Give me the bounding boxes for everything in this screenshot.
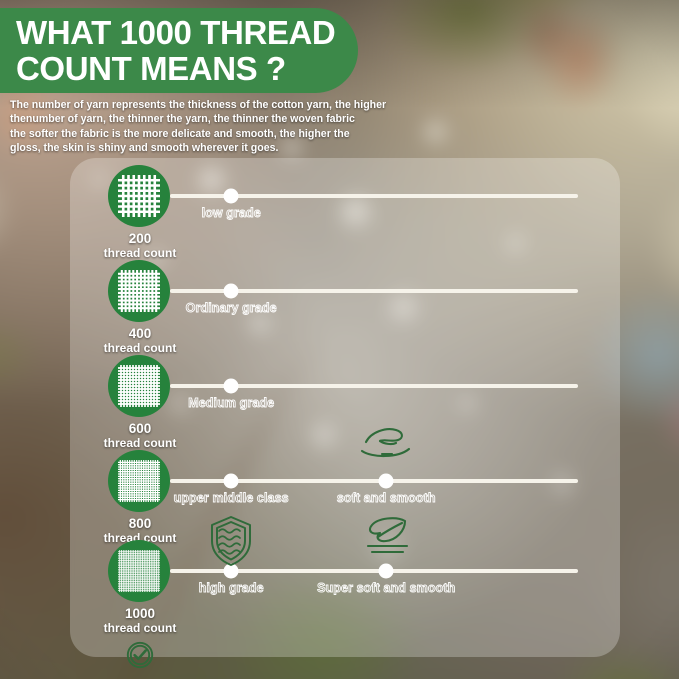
scale-stop-label: soft and smooth bbox=[337, 491, 436, 505]
scale-stop-label: Super soft and smooth bbox=[317, 581, 455, 595]
intro-paragraph: The number of yarn represents the thickn… bbox=[10, 98, 410, 156]
scale-stop-dot[interactable] bbox=[224, 284, 239, 299]
scale-stop-label: upper middle class bbox=[174, 491, 289, 505]
thread-count-number: 800 bbox=[60, 517, 220, 532]
mesh-grid-icon bbox=[118, 365, 160, 407]
scale-stop-label: low grade bbox=[202, 206, 261, 220]
check-circle-icon bbox=[126, 641, 154, 674]
thread-count-number: 200 bbox=[60, 232, 220, 247]
thread-count-number: 600 bbox=[60, 422, 220, 437]
thread-count-number: 400 bbox=[60, 327, 220, 342]
page-title: WHAT 1000 THREAD COUNT MEANS ? bbox=[0, 15, 353, 86]
thread-count-unit: thread count bbox=[60, 437, 220, 450]
mesh-grid-icon bbox=[118, 175, 160, 217]
scale-stop-label: Ordinary grade bbox=[186, 301, 277, 315]
thread-count-label: 400thread count bbox=[60, 327, 220, 355]
thread-count-unit: thread count bbox=[60, 622, 220, 635]
title-banner: WHAT 1000 THREAD COUNT MEANS ? bbox=[0, 8, 358, 93]
scale-stop-dot[interactable] bbox=[224, 474, 239, 489]
thread-mesh-swatch bbox=[108, 260, 170, 322]
thread-count-number: 1000 bbox=[60, 607, 220, 622]
thread-mesh-swatch bbox=[108, 165, 170, 227]
thread-mesh-swatch bbox=[108, 540, 170, 602]
thread-count-label: 600thread count bbox=[60, 422, 220, 450]
scale-stop-label: Medium grade bbox=[188, 396, 274, 410]
thread-count-label: 200thread count bbox=[60, 232, 220, 260]
thread-mesh-swatch bbox=[108, 450, 170, 512]
feather-soft-icon bbox=[358, 515, 414, 564]
scale-stop-dot[interactable] bbox=[224, 189, 239, 204]
mesh-grid-icon bbox=[118, 270, 160, 312]
shield-wave-icon bbox=[208, 515, 254, 572]
thread-count-unit: thread count bbox=[60, 247, 220, 260]
thread-mesh-swatch bbox=[108, 355, 170, 417]
thread-count-label: 1000thread count bbox=[60, 607, 220, 635]
scale-stop-label: high grade bbox=[199, 581, 264, 595]
scale-stop-dot[interactable] bbox=[379, 564, 394, 579]
scale-stop-dot[interactable] bbox=[224, 379, 239, 394]
hand-smooth-icon bbox=[358, 425, 414, 470]
mesh-grid-icon bbox=[118, 460, 160, 502]
thread-count-unit: thread count bbox=[60, 342, 220, 355]
scale-stop-dot[interactable] bbox=[379, 474, 394, 489]
mesh-grid-icon bbox=[118, 550, 160, 592]
